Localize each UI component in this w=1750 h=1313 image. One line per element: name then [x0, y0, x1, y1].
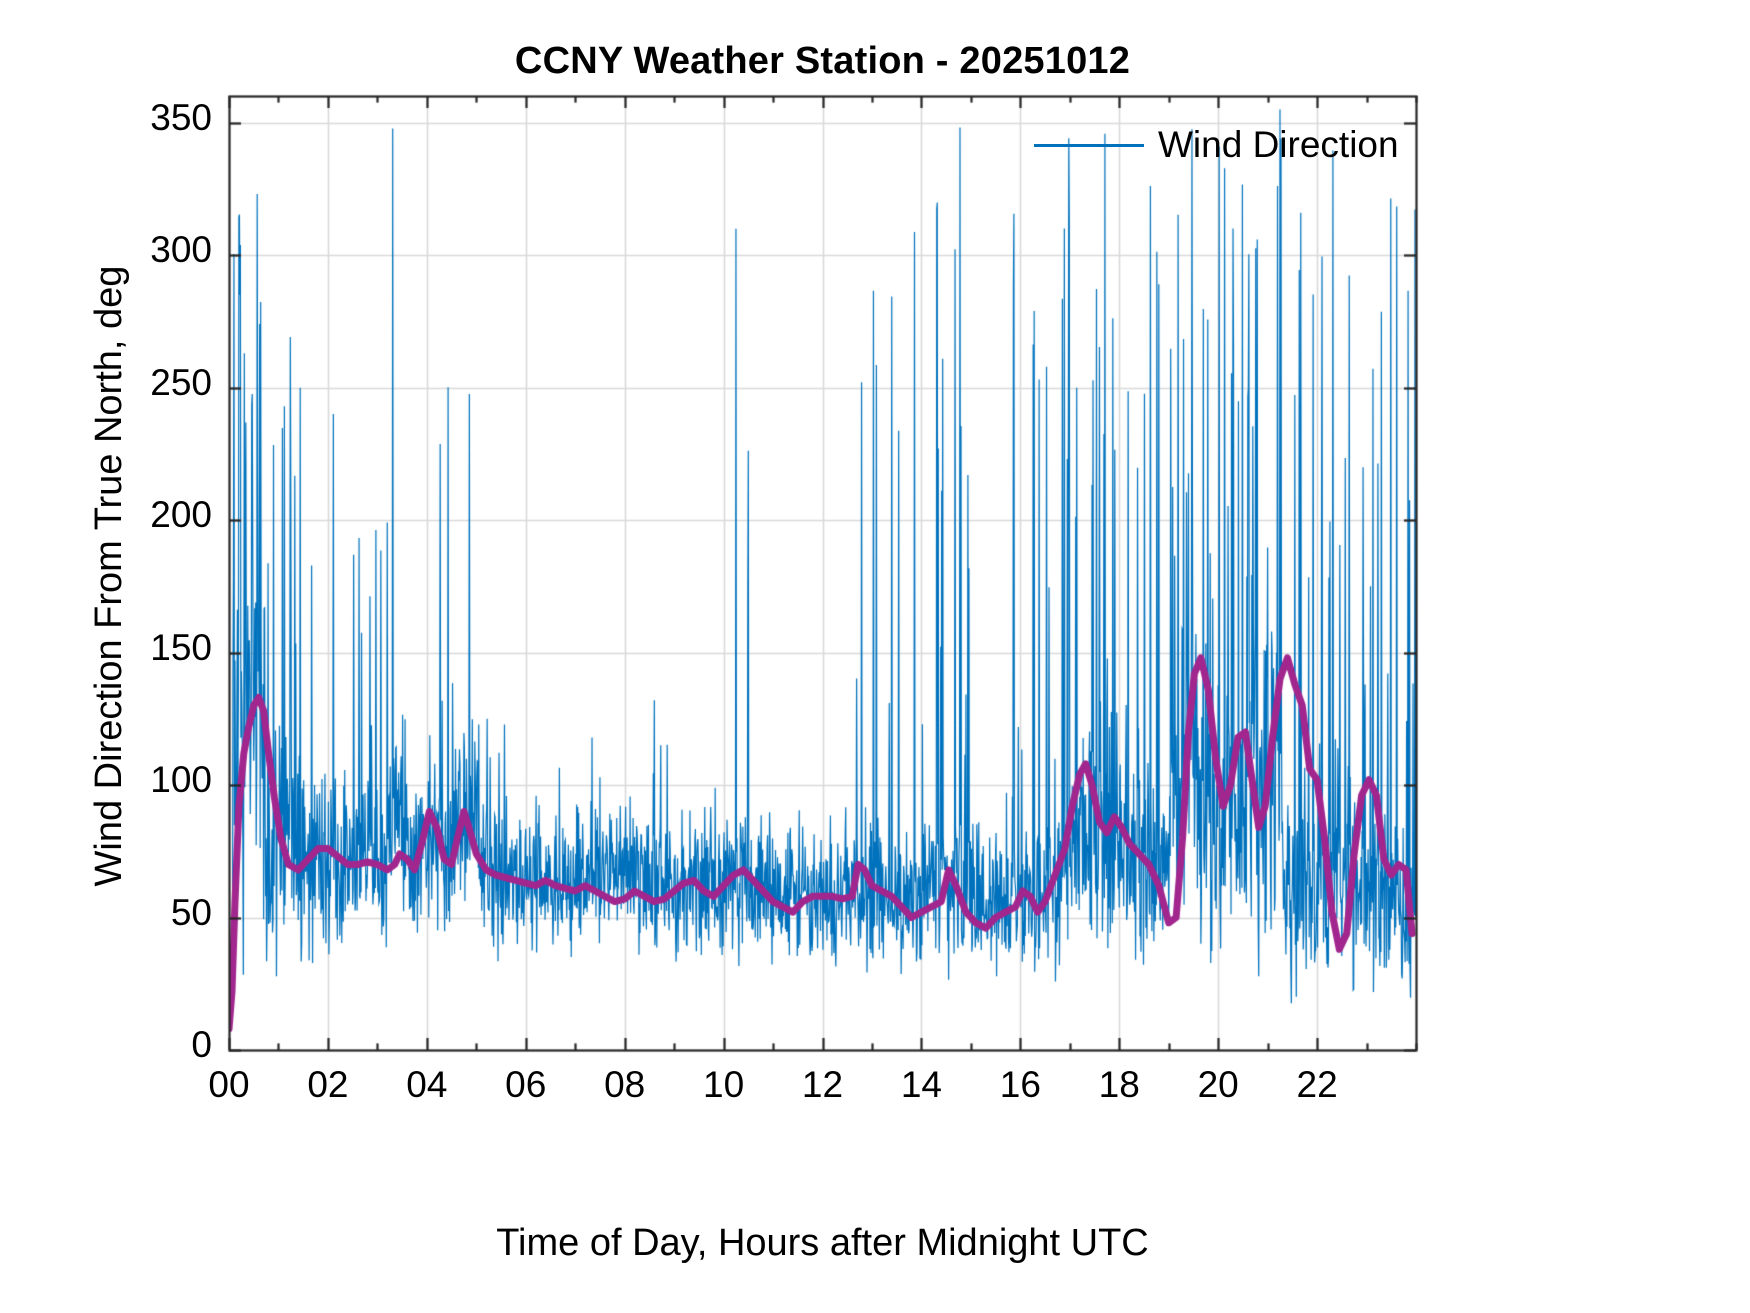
- x-tick-label: 18: [1099, 1064, 1140, 1106]
- chart-legend[interactable]: Wind Direction: [1034, 124, 1399, 166]
- x-tick-label: 06: [505, 1064, 546, 1106]
- x-tick-label: 14: [901, 1064, 942, 1106]
- x-tick-label: 04: [406, 1064, 447, 1106]
- x-tick-label: 20: [1198, 1064, 1239, 1106]
- chart-figure: CCNY Weather Station - 20251012 Wind Dir…: [0, 0, 1750, 1313]
- x-tick-label-layer: 000204060810121416182022: [0, 0, 1750, 1313]
- x-tick-label: 16: [1000, 1064, 1041, 1106]
- legend-label-wind-direction: Wind Direction: [1144, 124, 1399, 166]
- legend-line-sample-wind-direction: [1034, 144, 1144, 147]
- x-tick-label: 22: [1297, 1064, 1338, 1106]
- x-tick-label: 08: [604, 1064, 645, 1106]
- x-tick-label: 10: [703, 1064, 744, 1106]
- x-tick-label: 02: [307, 1064, 348, 1106]
- x-tick-label: 00: [208, 1064, 249, 1106]
- x-tick-label: 12: [802, 1064, 843, 1106]
